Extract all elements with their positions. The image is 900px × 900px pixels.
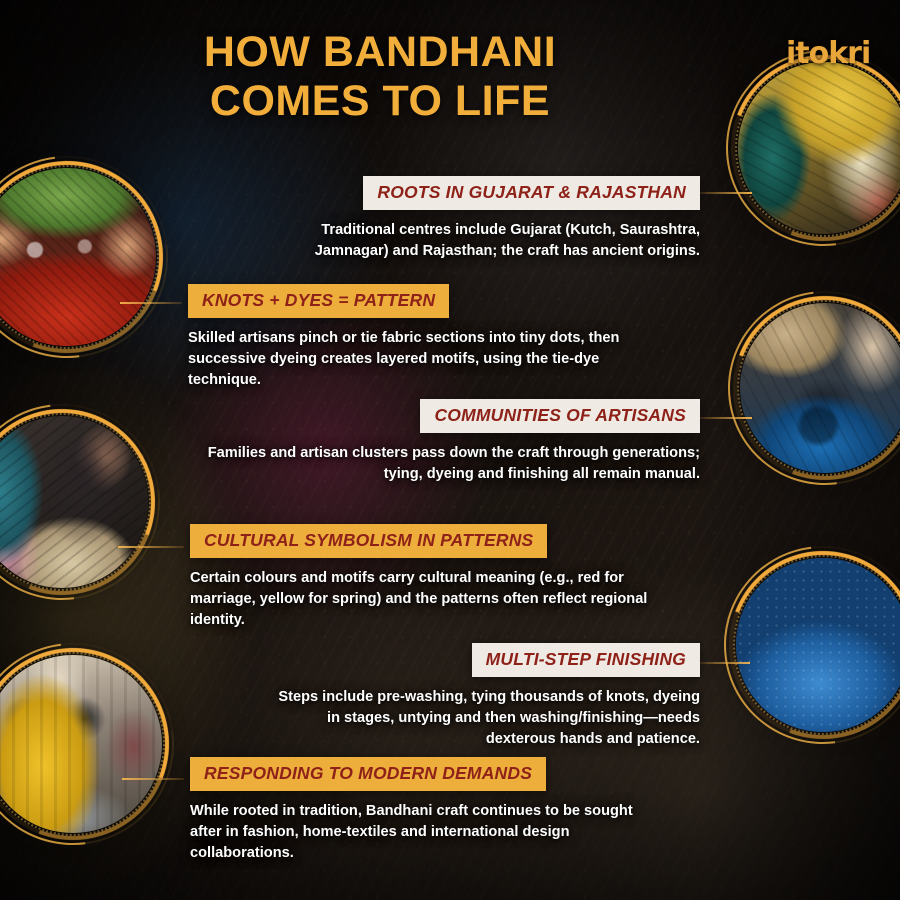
section-body-2: Skilled artisans pinch or tie fabric sec… — [188, 328, 658, 391]
section-responding-to-modern-demands: RESPONDING TO MODERN DEMANDS While roote… — [190, 757, 660, 864]
section-heading-1: ROOTS IN GUJARAT & RAJASTHAN — [363, 176, 700, 210]
itokri-logo[interactable]: itokri — [786, 32, 878, 76]
section-cultural-symbolism-in-patterns: CULTURAL SYMBOLISM IN PATTERNS Certain c… — [190, 524, 660, 631]
section-body-4: Certain colours and motifs carry cultura… — [190, 568, 660, 631]
connector-line-6 — [122, 778, 184, 780]
photo-dyer-blue-vat-shop — [740, 303, 900, 473]
section-communities-of-artisans: COMMUNITIES OF ARTISANS Families and art… — [206, 399, 700, 485]
connector-line-4 — [118, 546, 184, 548]
photo-frame — [0, 416, 148, 588]
photo-women-tying-knots — [0, 416, 148, 588]
section-body-3: Families and artisan clusters pass down … — [206, 443, 700, 485]
section-body-6: While rooted in tradition, Bandhani craf… — [190, 801, 660, 864]
section-heading-4: CULTURAL SYMBOLISM IN PATTERNS — [190, 524, 547, 558]
section-heading-5: MULTI-STEP FINISHING — [472, 643, 700, 677]
photo-hands-tying-red-fabric — [0, 168, 156, 346]
photo-frame — [0, 168, 156, 346]
photo-frame — [736, 558, 900, 732]
section-heading-6: RESPONDING TO MODERN DEMANDS — [190, 757, 546, 791]
photo-frame — [738, 62, 900, 234]
photo-frame — [740, 303, 900, 473]
infographic-poster: HOW BANDHANI COMES TO LIFE itokri — [0, 0, 900, 900]
section-heading-3: COMMUNITIES OF ARTISANS — [420, 399, 700, 433]
section-knots-dyes-pattern: KNOTS + DYES = PATTERN Skilled artisans … — [188, 284, 658, 391]
photo-dyer-yellow-skein — [0, 655, 162, 833]
page-title: HOW BANDHANI COMES TO LIFE — [0, 28, 760, 126]
title-line-2: COMES TO LIFE — [0, 77, 760, 126]
photo-frame — [0, 655, 162, 833]
connector-line-3 — [700, 417, 752, 419]
connector-line-1 — [700, 192, 752, 194]
connector-line-2 — [120, 302, 182, 304]
section-heading-2: KNOTS + DYES = PATTERN — [188, 284, 449, 318]
section-body-1: Traditional centres include Gujarat (Kut… — [244, 220, 700, 262]
section-multi-step-finishing: MULTI-STEP FINISHING Steps include pre-w… — [268, 643, 700, 750]
title-line-1: HOW BANDHANI — [0, 28, 760, 77]
photo-blue-dye-vat — [736, 558, 900, 732]
section-body-5: Steps include pre-washing, tying thousan… — [268, 687, 700, 750]
section-roots-in-gujarat-rajasthan: ROOTS IN GUJARAT & RAJASTHAN Traditional… — [244, 176, 700, 262]
photo-women-artisans-yellow-room — [738, 62, 900, 234]
connector-line-5 — [700, 662, 750, 664]
itokri-logo-text: itokri — [786, 32, 878, 76]
